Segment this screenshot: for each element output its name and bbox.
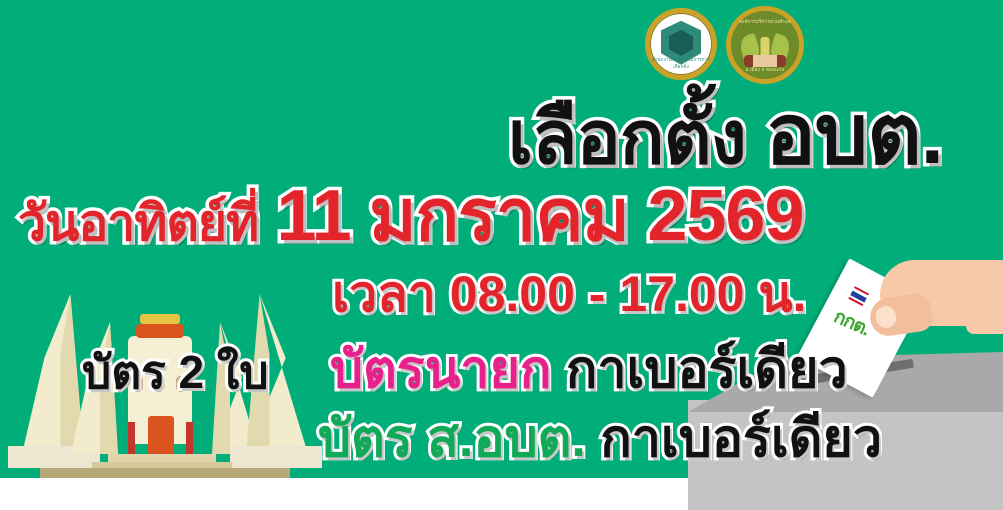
date-line: วันอาทิตย์ที่ 11 มกราคม 2569 <box>18 180 803 252</box>
monument-center-crown <box>140 314 180 324</box>
ballot-count-label: บัตร 2 ใบ <box>82 349 269 395</box>
ect-seal-caption: สำนักงานคณะกรรมการการเลือกตั้ง <box>650 56 712 70</box>
headline: เลือกตั้ง อบต. <box>508 92 943 176</box>
local-administration-seal-icon: องค์การบริหารส่วนตำบล อ.เมือง จ.ขอนแก่น <box>726 6 804 84</box>
date-day: 11 <box>277 176 351 256</box>
member-ballot-line: บัตร ส.อบต. กาเบอร์เดียว <box>318 413 882 465</box>
headline-lead: เลือกตั้ง <box>508 96 746 179</box>
date-month: มกราคม <box>369 176 629 256</box>
mayor-ballot-label: บัตรนายก <box>330 341 551 399</box>
headline-main: อบต. <box>765 87 943 181</box>
ect-thailand-seal-icon: สำนักงานคณะกรรมการการเลือกตั้ง <box>645 8 717 80</box>
local-seal-caption: องค์การบริหารส่วนตำบล <box>731 18 799 25</box>
monument-center-doorway <box>148 416 174 454</box>
member-ballot-instruction: กาเบอร์เดียว <box>600 410 882 468</box>
mayor-ballot-line: บัตรนายก กาเบอร์เดียว <box>330 344 848 396</box>
monument-pillar-right <box>186 422 193 454</box>
monument-pillar-left <box>128 422 135 454</box>
mayor-ballot-instruction: กาเบอร์เดียว <box>566 341 848 399</box>
date-prefix: วันอาทิตย์ที่ <box>18 195 258 251</box>
ballot-box-front-lower <box>688 478 1003 510</box>
member-ballot-label: บัตร ส.อบต. <box>318 410 586 468</box>
monument-center-cap <box>136 324 184 338</box>
local-seal-subcaption: อ.เมือง จ.ขอนแก่น <box>731 66 799 73</box>
election-poster: กกต. สำนักงานคณะกรรมการการเลือกตั้ง องค์… <box>0 0 1003 510</box>
time-line: เวลา 08.00 - 17.00 น. <box>332 269 806 319</box>
hand-illustration <box>862 252 1003 372</box>
date-year: 2569 <box>647 176 803 256</box>
monument-base-right <box>230 446 322 468</box>
